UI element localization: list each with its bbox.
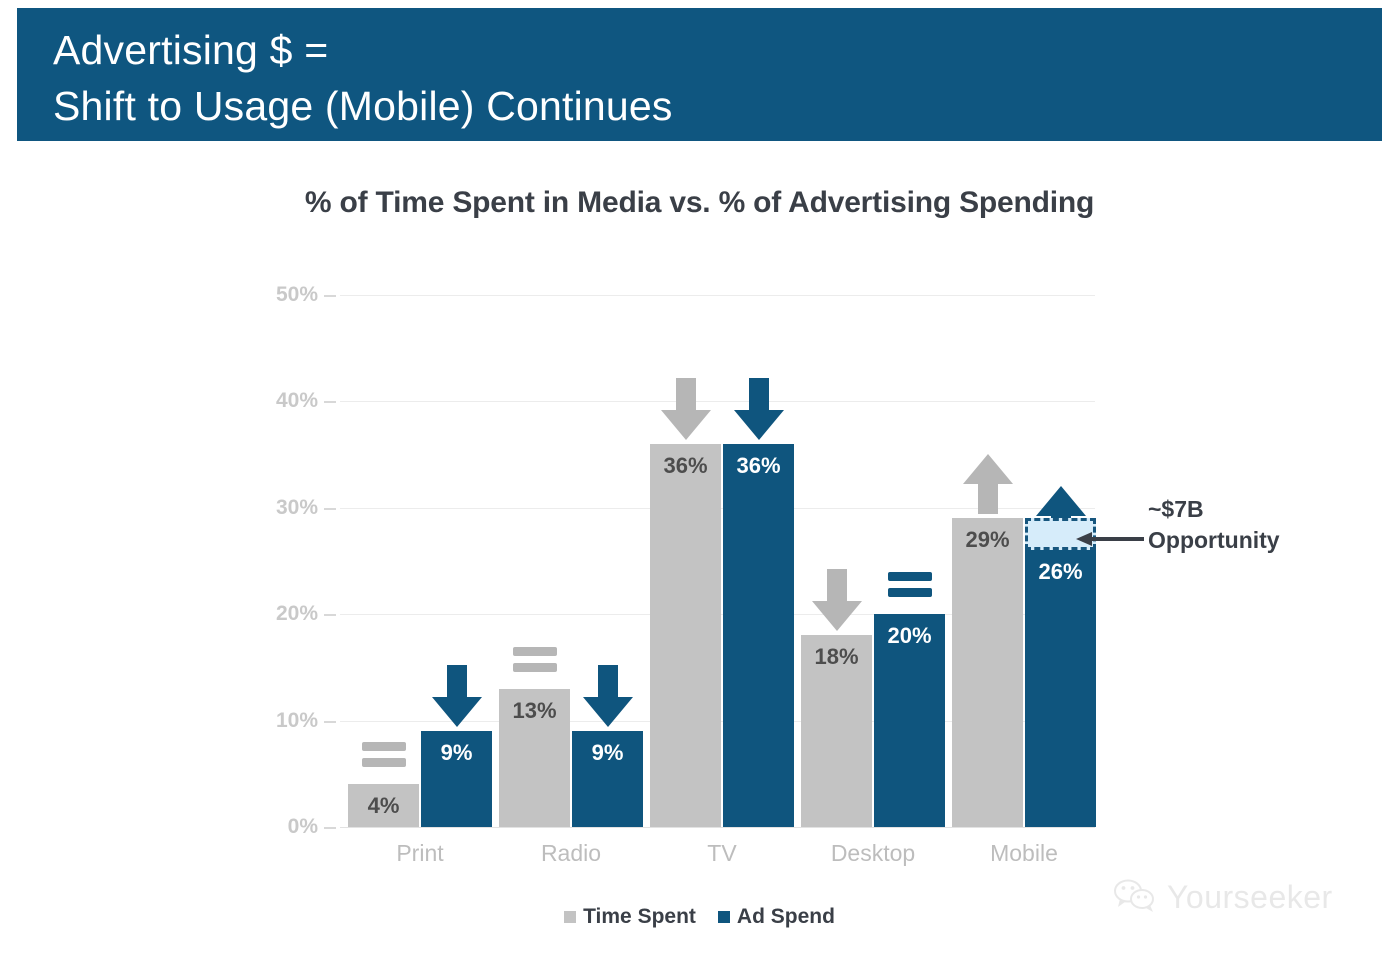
bar-mobile-ad-spend[interactable]: 26% — [1025, 550, 1096, 827]
trend-indicator — [874, 572, 945, 604]
arrow-down-icon — [580, 665, 636, 729]
trend-indicator — [650, 378, 721, 442]
arrow-down-icon — [809, 569, 865, 633]
bar-value-label: 26% — [1025, 559, 1096, 585]
gridline — [340, 827, 1095, 828]
plot-area: 4%9%13%9%36%36%18%20%29%26% — [340, 295, 1095, 827]
bar-print-time-spent[interactable]: 4% — [348, 784, 419, 827]
y-axis-tick-label: 50% — [254, 283, 318, 307]
bar-print-ad-spend[interactable]: 9% — [421, 731, 492, 827]
trend-indicator — [348, 742, 419, 774]
bar-value-label: 29% — [952, 527, 1023, 553]
watermark-text: Yourseeker — [1167, 879, 1333, 916]
opportunity-pointer-arrow — [1076, 531, 1146, 547]
bar-radio-ad-spend[interactable]: 9% — [572, 731, 643, 827]
y-axis-tick-label: 0% — [254, 815, 318, 839]
bar-group: 36%36% — [650, 295, 794, 827]
arrow-down-icon — [731, 378, 787, 442]
y-axis-tick-mark — [324, 401, 336, 403]
bar-value-label: 36% — [723, 453, 794, 479]
bar-mobile-time-spent[interactable]: 29% — [952, 518, 1023, 827]
y-axis-tick-label: 40% — [254, 389, 318, 413]
y-axis-tick-mark — [324, 614, 336, 616]
legend-swatch-icon — [718, 911, 730, 923]
x-axis-tick-label-radio: Radio — [491, 840, 651, 867]
trend-indicator — [421, 665, 492, 729]
wechat-icon — [1113, 878, 1157, 916]
legend-label: Time Spent — [583, 905, 696, 929]
bar-value-label: 9% — [572, 740, 643, 766]
bar-desktop-time-spent[interactable]: 18% — [801, 635, 872, 827]
legend-item[interactable]: Time Spent — [564, 905, 696, 929]
bar-group: 13%9% — [499, 295, 643, 827]
bar-desktop-ad-spend[interactable]: 20% — [874, 614, 945, 827]
arrow-down-icon — [658, 378, 714, 442]
bar-value-label: 4% — [348, 793, 419, 819]
x-axis-tick-label-print: Print — [340, 840, 500, 867]
bar-group: 29%26% — [952, 295, 1096, 827]
opportunity-amount: ~$7B — [1148, 494, 1368, 525]
bar-value-label: 9% — [421, 740, 492, 766]
opportunity-label: Opportunity — [1148, 525, 1368, 556]
bar-value-label: 20% — [874, 623, 945, 649]
equals-icon — [888, 572, 932, 597]
equals-icon — [513, 647, 557, 672]
x-axis-tick-label-mobile: Mobile — [944, 840, 1104, 867]
trend-indicator — [723, 378, 794, 442]
trend-indicator — [801, 569, 872, 633]
opportunity-annotation: ~$7B Opportunity — [1148, 494, 1368, 556]
y-axis-tick-mark — [324, 721, 336, 723]
bar-value-label: 18% — [801, 644, 872, 670]
legend-item[interactable]: Ad Spend — [718, 905, 835, 929]
trend-indicator — [499, 647, 570, 679]
y-axis-title: % of Media Time in Media / Advertising S… — [196, 0, 256, 330]
trend-indicator — [952, 452, 1023, 516]
y-axis-tick-mark — [324, 827, 336, 829]
y-axis-tick-label: 10% — [254, 709, 318, 733]
bar-tv-time-spent[interactable]: 36% — [650, 444, 721, 827]
y-axis-tick-mark — [324, 295, 336, 297]
bar-value-label: 13% — [499, 698, 570, 724]
y-axis-tick-mark — [324, 508, 336, 510]
bar-chart: % of Media Time in Media / Advertising S… — [0, 0, 1399, 960]
trend-indicator — [572, 665, 643, 729]
bar-group: 4%9% — [348, 295, 492, 827]
legend-label: Ad Spend — [737, 905, 835, 929]
watermark: Yourseeker — [1113, 878, 1333, 916]
bar-tv-ad-spend[interactable]: 36% — [723, 444, 794, 827]
bar-group: 18%20% — [801, 295, 945, 827]
y-axis-tick-label: 20% — [254, 602, 318, 626]
x-axis-tick-label-tv: TV — [642, 840, 802, 867]
y-axis-tick-label: 30% — [254, 496, 318, 520]
bar-radio-time-spent[interactable]: 13% — [499, 689, 570, 827]
x-axis-tick-label-desktop: Desktop — [793, 840, 953, 867]
bar-value-label: 36% — [650, 453, 721, 479]
arrow-down-icon — [429, 665, 485, 729]
legend-swatch-icon — [564, 911, 576, 923]
equals-icon — [362, 742, 406, 767]
arrow-up-icon — [960, 452, 1016, 516]
